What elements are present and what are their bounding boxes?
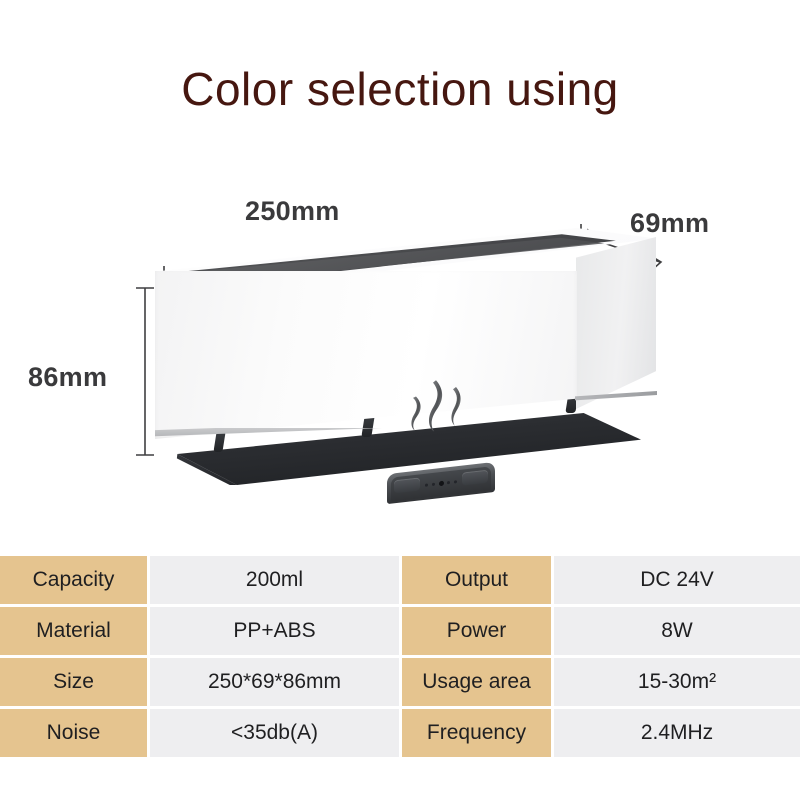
page-title: Color selection using [0,62,800,116]
device-front-face [155,271,577,439]
led-indicator [425,483,428,486]
table-row: Size 250*69*86mm Usage area 15-30m² [0,658,800,709]
spec-value-power: 8W [554,607,800,658]
led-indicator [454,480,457,483]
spec-value-output: DC 24V [554,556,800,607]
table-row: Noise <35db(A) Frequency 2.4MHz [0,709,800,757]
led-indicator-main [439,480,444,486]
spec-key-size: Size [0,658,150,709]
spec-key-noise: Noise [0,709,150,757]
table-row: Capacity 200ml Output DC 24V [0,556,800,607]
device-body [0,170,800,540]
spec-key-usage-area: Usage area [402,658,554,709]
spec-key-material: Material [0,607,150,658]
spec-value-noise: <35db(A) [150,709,402,757]
spec-value-capacity: 200ml [150,556,402,607]
spec-value-frequency: 2.4MHz [554,709,800,757]
specification-table: Capacity 200ml Output DC 24V Material PP… [0,556,800,757]
spec-value-usage-area: 15-30m² [554,658,800,709]
product-illustration: 250mm 69mm 86mm [0,170,800,540]
table-row: Material PP+ABS Power 8W [0,607,800,658]
device-bottom-lip [155,428,579,446]
led-indicator [432,482,435,485]
led-indicator [447,480,450,483]
steam-waves-icon [407,364,469,439]
device-housing [155,228,655,453]
device-side-face [576,237,656,409]
spec-value-material: PP+ABS [150,607,402,658]
spec-key-frequency: Frequency [402,709,554,757]
spec-key-output: Output [402,556,554,607]
spec-key-power: Power [402,607,554,658]
spec-key-capacity: Capacity [0,556,150,607]
spec-value-size: 250*69*86mm [150,658,402,709]
